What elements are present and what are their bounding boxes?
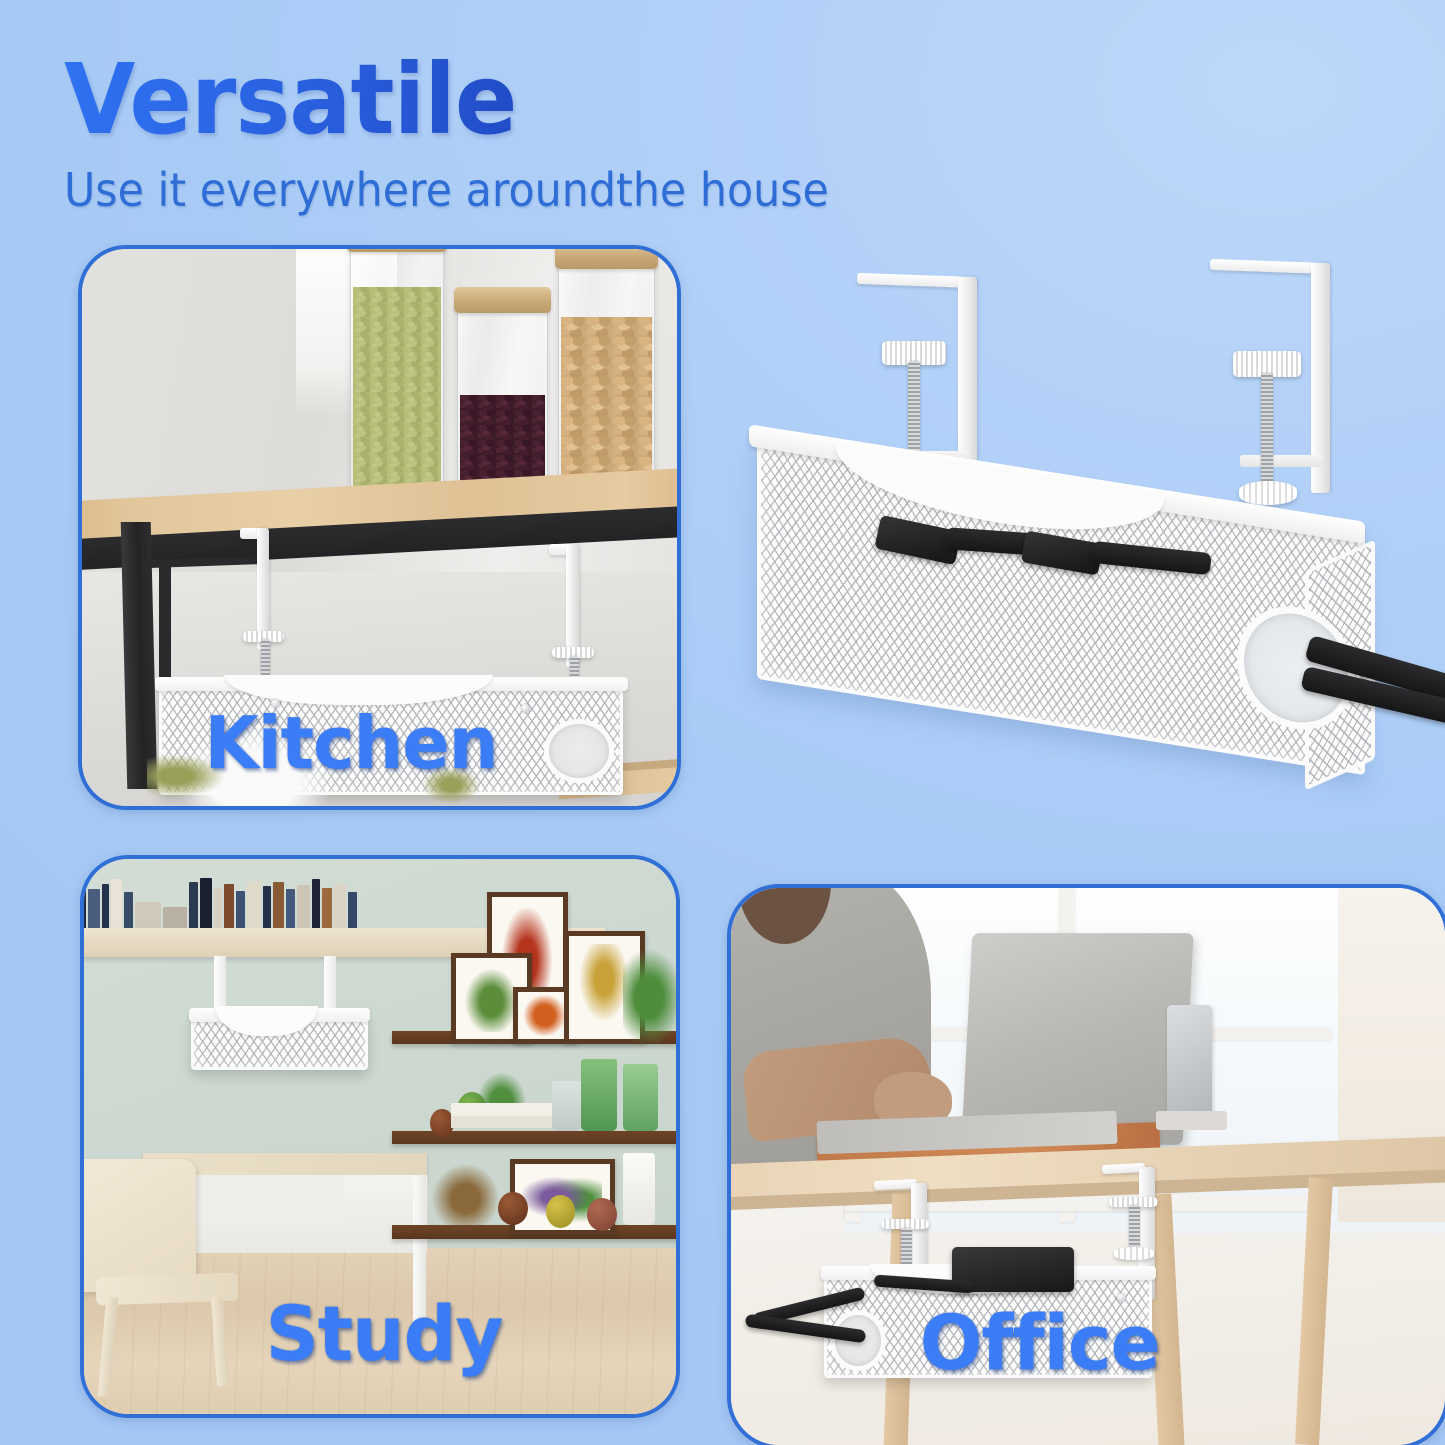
clamp-arm-lower [1240, 455, 1322, 467]
infographic-root: Versatile Use it everywhere aroundthe ho… [0, 0, 1445, 1445]
clamp-foot [1239, 481, 1297, 505]
caption-office: Office [920, 1298, 1160, 1387]
caption-kitchen: Kitchen [205, 701, 498, 785]
hanging-plant [623, 942, 680, 1053]
bamboo-lid-icon [555, 245, 658, 269]
bamboo-lid-icon [454, 287, 550, 313]
bamboo-lid-icon [347, 245, 447, 252]
clamp-foot [1114, 1247, 1154, 1259]
rattan-ball [587, 1198, 617, 1231]
panel-office[interactable]: Office [727, 884, 1445, 1445]
green-vase [581, 1059, 617, 1131]
green-peas-jar [350, 245, 444, 507]
caption-study: Study [266, 1289, 503, 1378]
panel-study[interactable]: Study [80, 855, 680, 1418]
clamp-screw-rod [1129, 1205, 1140, 1250]
cable-tray-basket [191, 1014, 369, 1070]
chair-back [80, 1159, 196, 1292]
clamp-screw-rod [1261, 373, 1273, 485]
rattan-ball [498, 1192, 528, 1225]
hero-product [705, 255, 1445, 815]
white-cylinder-vase [623, 1153, 656, 1225]
cable-hole [544, 719, 614, 782]
stacked-book [451, 1116, 552, 1128]
glass-jar [552, 1081, 582, 1131]
driftwood-arrangement [427, 1159, 504, 1226]
phone-stand [1156, 1111, 1227, 1130]
basket-screw [521, 704, 530, 713]
rattan-ball [546, 1195, 576, 1228]
phone [1167, 1005, 1213, 1122]
header: Versatile Use it everywhere aroundthe ho… [64, 52, 1064, 217]
page-title: Versatile [64, 52, 1014, 147]
green-vase [623, 1064, 659, 1131]
page-subtitle: Use it everywhere aroundthe house [64, 163, 994, 217]
panel-kitchen[interactable]: Kitchen [78, 245, 681, 810]
